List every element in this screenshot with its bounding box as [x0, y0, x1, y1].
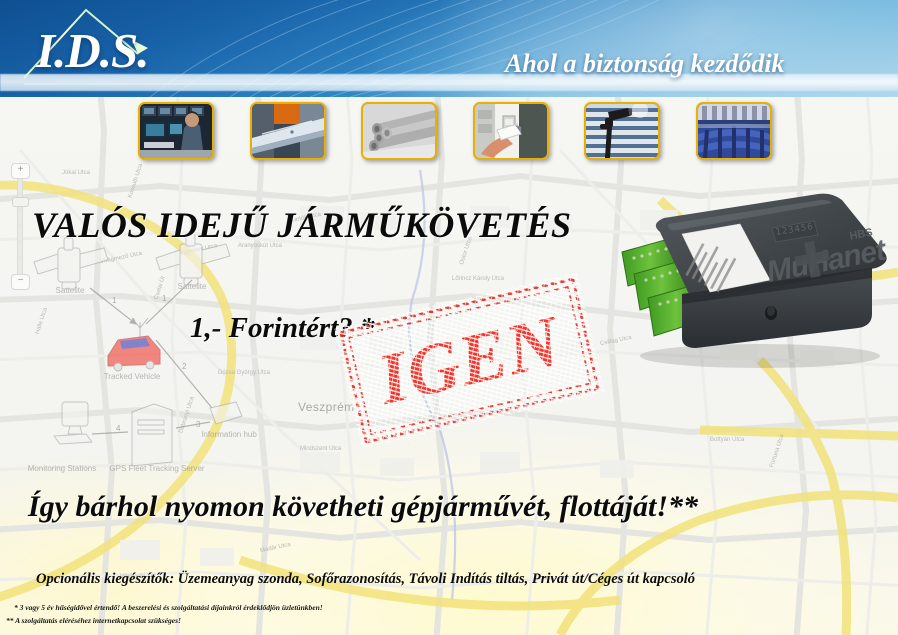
zoom-in-button[interactable]: +	[11, 163, 30, 179]
diagram-label-info-hub: Information hub	[192, 430, 266, 439]
thumbnail-access-card[interactable]	[473, 102, 549, 160]
diagram-link-3: 3	[196, 420, 200, 429]
diagram-link-2: 2	[182, 362, 186, 371]
map-street-label: Mindszent Utca	[300, 446, 341, 452]
footnote-two: ** A szolgáltatás eléréséhez internetkap…	[6, 616, 181, 625]
diagram-link-1a: 1	[112, 296, 116, 305]
zoom-slider-handle[interactable]	[12, 197, 29, 207]
page-headline: VALÓS IDEJŰ JÁRMŰKÖVETÉS	[32, 204, 571, 246]
diagram-label-satellite-right: Sattelite	[152, 282, 232, 291]
logo-text: I.D.S.	[36, 22, 148, 79]
thumbnail-ventilation[interactable]	[250, 102, 326, 160]
diagram-link-1b: 1	[162, 294, 166, 303]
map-street-label: Jókai Utca	[62, 170, 90, 176]
diagram-label-satellite-left: Sattelite	[30, 286, 110, 295]
gps-tracker-device: 123456 MuHanet HBS	[620, 190, 892, 370]
diagram-link-4: 4	[116, 424, 120, 433]
map-street-label: Lőrincz Károly Utca	[452, 276, 504, 282]
header-tagline: Ahol a biztonság kezdődik	[505, 49, 785, 79]
thumbnail-auditorium-seats[interactable]	[696, 102, 772, 160]
sub-headline: Így bárhol nyomon követheti gépjárművét,…	[28, 490, 698, 524]
site-header: I.D.S. Ahol a biztonság kezdődik	[0, 0, 898, 97]
thumbnail-steel-pipes[interactable]	[361, 102, 437, 160]
diagram-label-server: GPS Fleet Tracking Server	[102, 464, 212, 473]
thumbnail-strip	[138, 102, 772, 160]
thumbnail-cctv-camera[interactable]	[584, 102, 660, 160]
map-street-label: Bottyán Utca	[710, 437, 744, 443]
map-city-label: Veszprém	[298, 400, 355, 414]
poster-root: Veszprém Jókai UtcaKossuth UtcaVirágmező…	[0, 0, 898, 635]
gps-tracking-diagram: Sattelite Sattelite Tracked Vehicle Info…	[6, 232, 278, 480]
footnote-one: * 3 vagy 5 év hűségidővel értendő! A bes…	[14, 603, 323, 612]
options-line: Opcionális kiegészítők: Üzemeanyag szond…	[36, 571, 695, 588]
diagram-label-vehicle: Tracked Vehicle	[72, 372, 192, 381]
thumbnail-control-room[interactable]	[138, 102, 214, 160]
diagram-label-monitoring: Monitoring Stations	[14, 464, 110, 473]
